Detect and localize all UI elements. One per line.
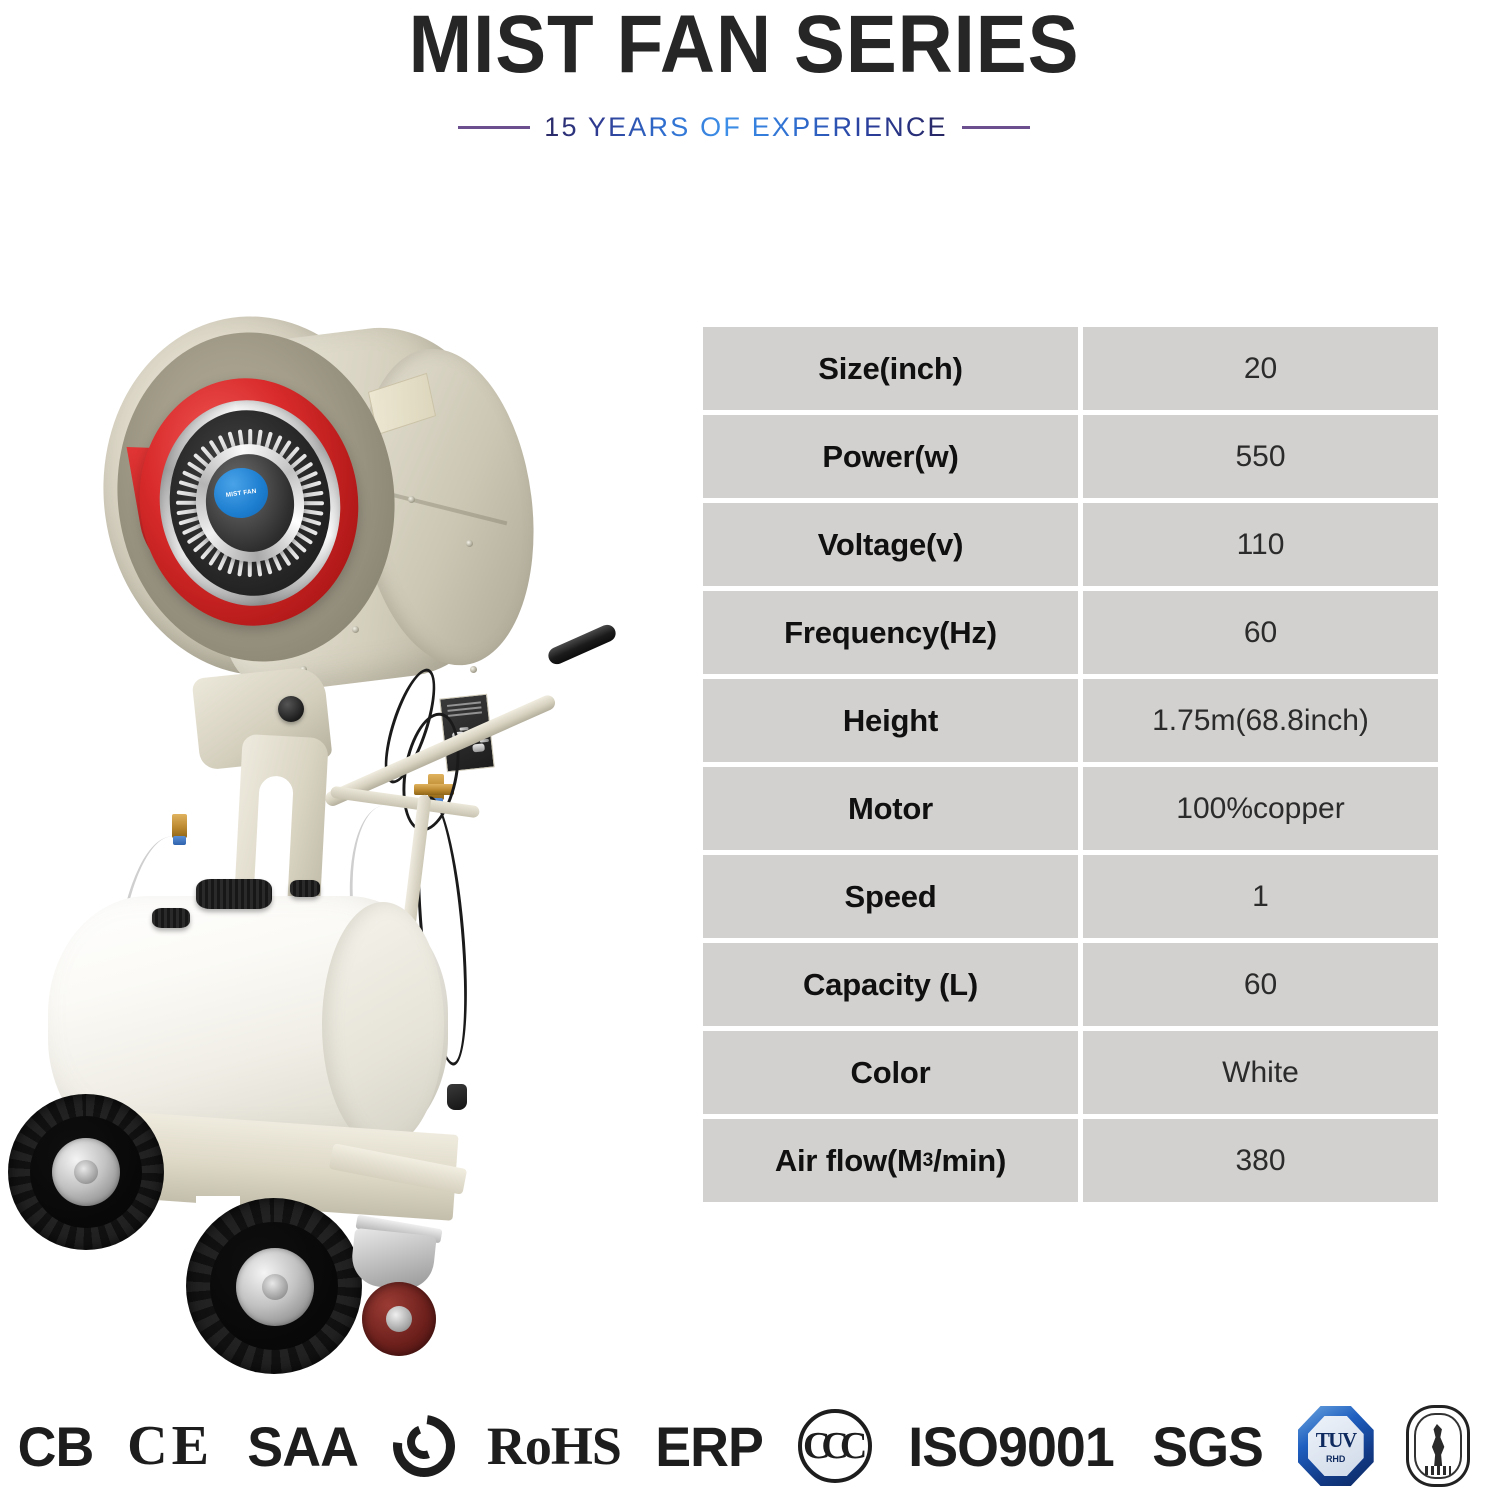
spec-row: Speed1	[703, 855, 1438, 938]
spec-row: Height1.75m(68.8inch)	[703, 679, 1438, 762]
spec-label: Size(inch)	[703, 327, 1078, 410]
tank-vent-cap[interactable]	[152, 908, 190, 928]
brand-logo-text: MIST FAN	[225, 488, 256, 499]
spec-value: 20	[1083, 327, 1438, 410]
cert-badge-seal	[1406, 1405, 1470, 1487]
tuv-inner: TUVRHD	[1308, 1416, 1364, 1476]
cert-badge-ccc: CCC	[798, 1409, 872, 1483]
spec-row: Size(inch)20	[703, 327, 1438, 410]
seal-base	[1425, 1466, 1451, 1475]
subtitle-dash-left	[458, 126, 530, 129]
cert-badge-ce: CE	[127, 1414, 213, 1478]
housing-screw	[408, 496, 415, 503]
cert-badge-tuv: TUVRHD	[1298, 1406, 1374, 1486]
cert-label: RoHS	[487, 1415, 621, 1477]
tank-outlet-cap[interactable]	[290, 880, 320, 897]
spec-label: Color	[703, 1031, 1078, 1114]
page-title: MIST FAN SERIES	[52, 4, 1436, 86]
cert-badge-saa: SAA	[245, 1414, 360, 1479]
spec-row: Frequency(Hz)60	[703, 591, 1438, 674]
cert-badge-rohs: RoHS	[487, 1415, 621, 1477]
tuv-octagon-icon: TUVRHD	[1298, 1406, 1374, 1486]
cert-label: ISO9001	[908, 1414, 1113, 1479]
product-image: MIST FAN	[0, 196, 690, 1356]
rear-wheel-hub	[74, 1160, 98, 1184]
spec-value: 550	[1083, 415, 1438, 498]
page-header: MIST FAN SERIES 15 YEARS OF EXPERIENCE	[0, 0, 1488, 143]
g-mark-icon	[393, 1415, 455, 1477]
spec-label: Motor	[703, 767, 1078, 850]
spec-label: Voltage(v)	[703, 503, 1078, 586]
spec-label: Height	[703, 679, 1078, 762]
subtitle-dash-right	[962, 126, 1030, 129]
cert-badge-g	[393, 1415, 455, 1477]
tuv-sublabel: RHD	[1326, 1454, 1346, 1464]
spec-label: Capacity (L)	[703, 943, 1078, 1026]
spec-row: Voltage(v)110	[703, 503, 1438, 586]
spec-value: 100%copper	[1083, 767, 1438, 850]
product-illustration: MIST FAN	[0, 196, 690, 1356]
cert-label: SAA	[247, 1414, 358, 1479]
spec-label: Air flow(M3/min)	[703, 1119, 1078, 1202]
spec-row: Capacity (L)60	[703, 943, 1438, 1026]
spec-value: 380	[1083, 1119, 1438, 1202]
housing-screw	[470, 666, 477, 673]
tuv-label: TUV	[1316, 1428, 1356, 1453]
certification-logo-bar: CBCESAARoHSERPCCCISO9001SGSTUVRHD	[0, 1392, 1488, 1500]
ccc-circle-icon: CCC	[798, 1409, 872, 1483]
power-plug	[447, 1084, 467, 1110]
specification-table: Size(inch)20Power(w)550Voltage(v)110Freq…	[703, 327, 1438, 1202]
mist-pump-switch[interactable]	[472, 743, 485, 752]
spec-value: 1	[1083, 855, 1438, 938]
spec-label: Frequency(Hz)	[703, 591, 1078, 674]
spec-label: Speed	[703, 855, 1078, 938]
swivel-caster-hub	[386, 1306, 412, 1332]
spec-row: Air flow(M3/min)380	[703, 1119, 1438, 1202]
spec-value: 1.75m(68.8inch)	[1083, 679, 1438, 762]
page-subtitle: 15 YEARS OF EXPERIENCE	[544, 112, 948, 143]
cert-label: CB	[18, 1414, 94, 1479]
cert-label: CE	[127, 1414, 213, 1478]
cert-badge-sgs: SGS	[1150, 1414, 1265, 1479]
spec-label: Power(w)	[703, 415, 1078, 498]
spec-row: Power(w)550	[703, 415, 1438, 498]
spec-value: 110	[1083, 503, 1438, 586]
tilt-adjust-knob[interactable]	[278, 696, 304, 722]
cert-badge-iso9001: ISO9001	[904, 1414, 1118, 1479]
oval-seal-icon	[1406, 1405, 1470, 1487]
tank-fill-cap[interactable]	[196, 879, 272, 909]
cert-label: SGS	[1152, 1414, 1263, 1479]
push-handle-grip[interactable]	[546, 622, 619, 667]
spec-row: ColorWhite	[703, 1031, 1438, 1114]
subtitle-row: 15 YEARS OF EXPERIENCE	[0, 112, 1488, 143]
spec-value: 60	[1083, 943, 1438, 1026]
cert-badge-cb: CB	[16, 1414, 95, 1479]
front-wheel-hub	[262, 1274, 288, 1300]
spec-value: White	[1083, 1031, 1438, 1114]
housing-screw	[466, 540, 473, 547]
cert-badge-erp: ERP	[653, 1414, 765, 1479]
spec-row: Motor100%copper	[703, 767, 1438, 850]
brass-nozzle-fitting	[172, 814, 187, 838]
spec-value: 60	[1083, 591, 1438, 674]
housing-screw	[352, 626, 359, 633]
cert-label: ERP	[655, 1414, 763, 1479]
water-tank-end-cap	[322, 902, 444, 1148]
content-area: MIST FAN	[0, 196, 1488, 1380]
